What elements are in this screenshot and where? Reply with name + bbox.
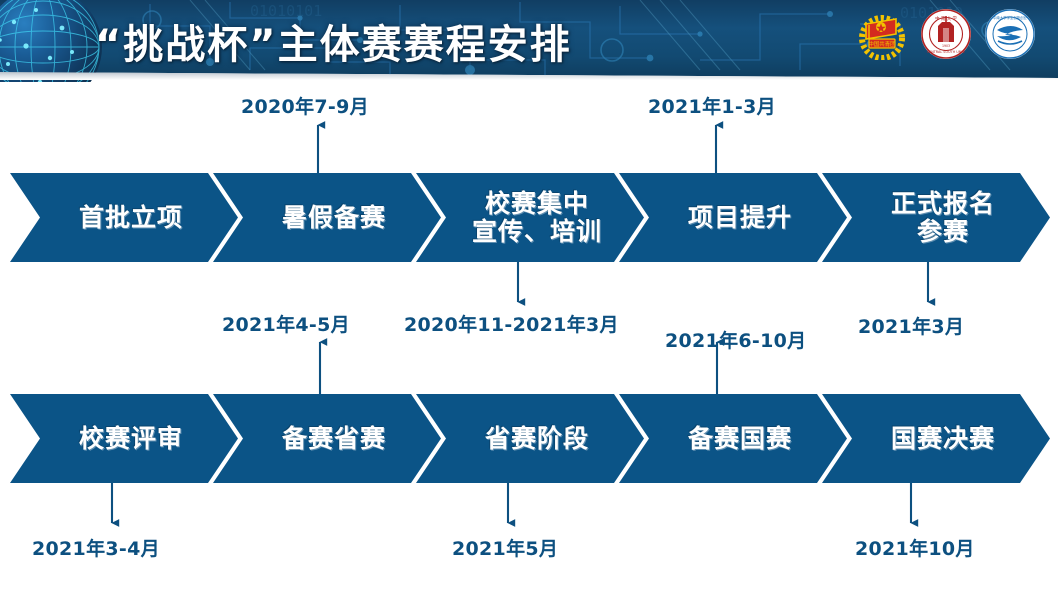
stage-label: 校赛评审	[79, 425, 183, 453]
stage-label: 国赛决赛	[891, 425, 995, 453]
stage-校赛集中宣传培训[interactable]: 校赛集中 宣传、培训	[416, 173, 644, 262]
slide-canvas: 01010101 0101010	[0, 0, 1058, 609]
network-globe-decoration	[0, 0, 102, 82]
stage-label: 备赛省赛	[282, 425, 386, 453]
logo-group: 中国共青团 中 南 大 学 CENTRAL SOUTH UNIV. 1903	[856, 8, 1036, 60]
stage-label: 备赛国赛	[688, 425, 792, 453]
svg-text:中 南 大 学: 中 南 大 学	[935, 15, 957, 22]
note-2021-10: 2021年10月	[855, 534, 975, 561]
stage-正式报名参赛[interactable]: 正式报名 参赛	[822, 173, 1050, 262]
stage-备赛省赛[interactable]: 备赛省赛	[213, 394, 441, 483]
stage-备赛国赛[interactable]: 备赛国赛	[619, 394, 847, 483]
title-banner: 01010101 0101010	[0, 0, 1058, 82]
note-2021-3: 2021年3月	[858, 312, 964, 339]
note-2021-4-5: 2021年4-5月	[222, 310, 350, 337]
note-2021-5: 2021年5月	[452, 534, 558, 561]
stage-校赛评审[interactable]: 校赛评审	[10, 394, 238, 483]
stage-label: 项目提升	[688, 204, 792, 232]
stage-国赛决赛[interactable]: 国赛决赛	[822, 394, 1050, 483]
svg-text:中南大学学生创新创业: 中南大学学生创新创业	[993, 15, 1028, 20]
page-title: “挑战杯”主体赛赛程安排	[95, 12, 572, 70]
stage-label: 首批立项	[79, 204, 183, 232]
stage-label: 省赛阶段	[485, 425, 589, 453]
svg-text:1903: 1903	[942, 44, 950, 48]
university-seal-red-icon: 中 南 大 学 CENTRAL SOUTH UNIV. 1903	[920, 8, 972, 60]
stage-label: 校赛集中 宣传、培训	[472, 190, 602, 246]
note-2021-3-4: 2021年3-4月	[32, 534, 160, 561]
note-2021-1-3: 2021年1-3月	[648, 92, 776, 119]
connector-arrows	[0, 80, 1058, 609]
stage-label: 正式报名 参赛	[891, 190, 995, 246]
stage-项目提升[interactable]: 项目提升	[619, 173, 847, 262]
stage-首批立项[interactable]: 首批立项	[10, 173, 238, 262]
communist-youth-league-emblem-icon: 中国共青团	[856, 8, 908, 60]
svg-text:中国共青团: 中国共青团	[869, 40, 896, 48]
note-2020-7-9: 2020年7-9月	[241, 92, 369, 119]
note-2021-6-10: 2021年6-10月	[665, 326, 806, 353]
stage-label: 暑假备赛	[282, 204, 386, 232]
note-2020-11-2021-3: 2020年11-2021年3月	[404, 310, 619, 337]
stage-省赛阶段[interactable]: 省赛阶段	[416, 394, 644, 483]
svg-text:CENTRAL SOUTH UNIV.: CENTRAL SOUTH UNIV.	[927, 50, 966, 54]
university-logo-blue-icon: 中南大学学生创新创业	[984, 8, 1036, 60]
stage-暑假备赛[interactable]: 暑假备赛	[213, 173, 441, 262]
